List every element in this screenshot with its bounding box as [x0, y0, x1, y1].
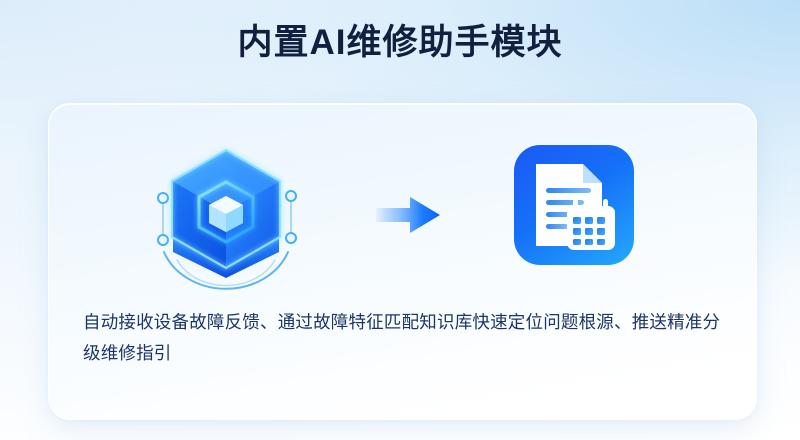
ai-hexagon-cube-icon: [131, 134, 321, 294]
card-description: 自动接收设备故障反馈、通过故障特征匹配知识库快速定位问题根源、推送精准分级维修指…: [83, 307, 723, 369]
arrow-right-icon: [374, 194, 444, 236]
document-calendar-icon: [511, 142, 637, 268]
calendar: [567, 199, 615, 250]
page-root: 内置AI维修助手模块: [0, 0, 800, 440]
feature-card: 自动接收设备故障反馈、通过故障特征匹配知识库快速定位问题根源、推送精准分级维修指…: [48, 103, 757, 420]
icon-row: [49, 134, 756, 294]
page-title: 内置AI维修助手模块: [0, 20, 800, 66]
